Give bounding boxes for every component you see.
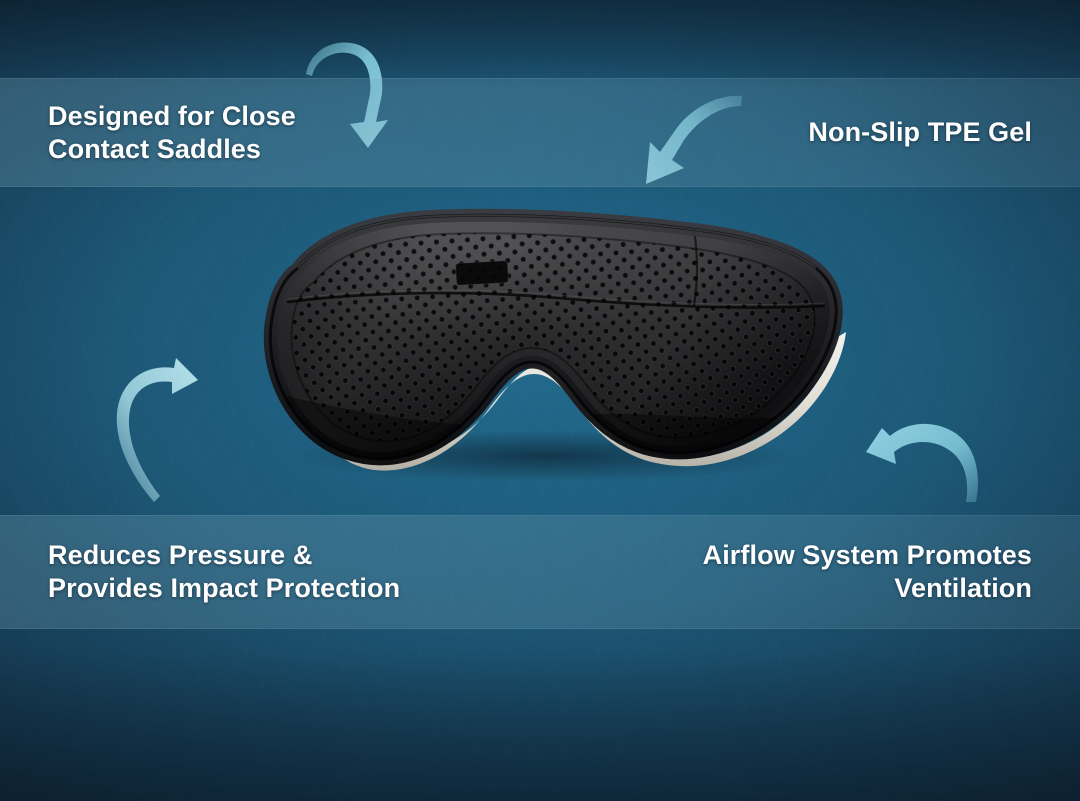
infographic-canvas: Designed for Close Contact Saddles Non-S… — [0, 0, 1080, 801]
feature-label-close-contact: Designed for Close Contact Saddles — [48, 100, 296, 166]
feature-banner-top: Designed for Close Contact Saddles Non-S… — [0, 78, 1080, 187]
feature-label-airflow: Airflow System Promotes Ventilation — [703, 539, 1032, 605]
feature-label-pressure-impact: Reduces Pressure & Provides Impact Prote… — [48, 539, 400, 605]
feature-banner-bottom: Reduces Pressure & Provides Impact Prote… — [0, 515, 1080, 629]
product-tag-patch — [455, 261, 508, 286]
feature-label-non-slip-gel: Non-Slip TPE Gel — [808, 116, 1032, 149]
product-image-saddle-pad — [228, 206, 856, 474]
